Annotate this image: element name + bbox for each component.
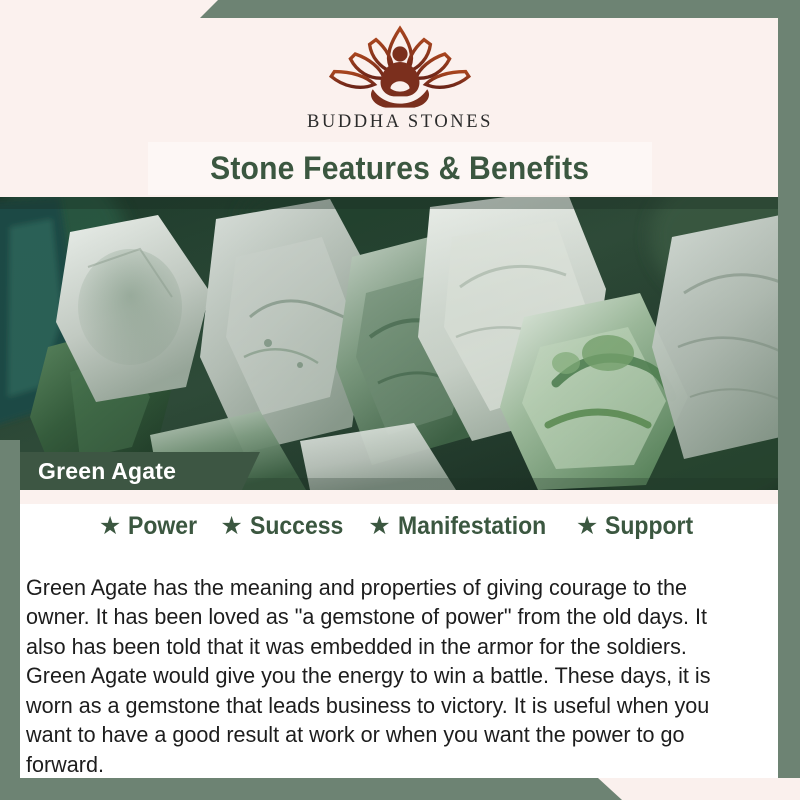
- star-icon: ★: [220, 514, 242, 539]
- feature-item-support: ★ Support: [576, 512, 701, 541]
- feature-label: Manifestation: [398, 512, 546, 541]
- product-name-label: Green Agate: [20, 458, 176, 485]
- product-photo: [0, 197, 800, 490]
- lotus-meditation-icon: [320, 22, 480, 110]
- product-description: Green Agate has the meaning and properti…: [26, 573, 744, 780]
- brand-logo: BUDDHA STONES: [0, 22, 800, 133]
- content-section: ★ Power ★ Success ★ Manifestation ★ Supp…: [0, 490, 800, 800]
- feature-item-manifestation: ★ Manifestation: [368, 512, 559, 541]
- frame-right-accent: [778, 0, 800, 800]
- feature-label: Power: [128, 512, 197, 541]
- feature-label: Success: [250, 512, 343, 541]
- feature-list: ★ Power ★ Success ★ Manifestation ★ Supp…: [0, 504, 800, 548]
- star-icon: ★: [99, 514, 121, 539]
- infographic-page: BUDDHA STONES Stone Features & Benefits: [0, 0, 800, 800]
- agate-stones-illustration: [0, 197, 800, 490]
- star-icon: ★: [576, 514, 598, 539]
- feature-item-power: ★ Power: [99, 512, 203, 541]
- brand-name: BUDDHA STONES: [0, 112, 800, 133]
- product-name-badge: Green Agate: [20, 452, 260, 490]
- content-top-strip: [0, 490, 800, 504]
- star-icon: ★: [368, 514, 390, 539]
- feature-item-success: ★ Success: [220, 512, 351, 541]
- page-title: Stone Features & Benefits: [210, 150, 589, 187]
- page-title-panel: Stone Features & Benefits: [148, 142, 652, 195]
- feature-label: Support: [605, 512, 693, 541]
- frame-left-accent: [0, 440, 20, 800]
- header-section: BUDDHA STONES Stone Features & Benefits: [0, 0, 800, 197]
